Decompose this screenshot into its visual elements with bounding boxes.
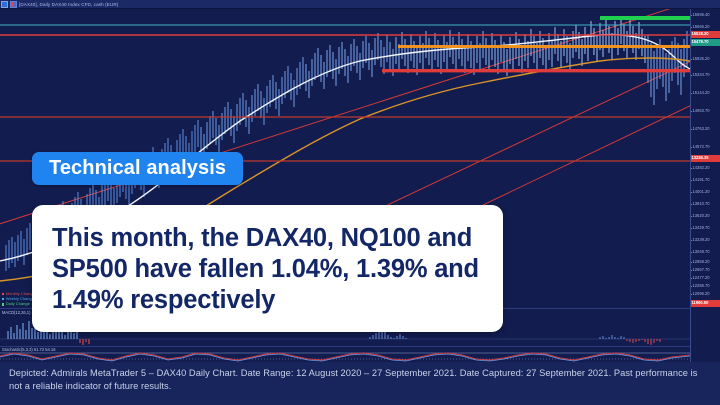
legend-color-swatch-daily [2,303,4,305]
macd-scale-axis [690,308,720,346]
screenshot-root: [DAX40], Daily DAX40 Index CFD, cash (EU… [0,0,720,405]
legend-color-swatch-monthly [2,293,4,295]
price-tag-ask: 15528.20 [690,31,720,38]
price-tick: 13048.70 [690,248,720,256]
chart-title-label: [DAX40], Daily DAX40 Index CFD, cash (EU… [19,0,118,9]
price-tick: 12096.20 [690,290,720,298]
price-tick: 15696.40 [690,11,720,19]
price-tick: 13810.70 [690,200,720,208]
price-tick: 12477.20 [690,274,720,282]
stochastic-scale-axis [690,346,720,362]
chart-titlebar: [DAX40], Daily DAX40 Index CFD, cash (EU… [0,0,720,9]
price-tick: 15144.20 [690,89,720,97]
stochastic-pane-label: Stochastic(5,3,3) 61.72 54.16 [2,347,55,352]
legend-color-swatch-weekly [2,298,4,300]
chart-legend: Monthly Change Weekly Change Daily Chang… [2,291,35,307]
price-tag-bid: 15479.70 [690,39,720,46]
price-tag-level-2: 11960.50 [690,300,720,307]
mt5-app-icon [1,1,8,8]
price-tick: 15566.20 [690,23,720,31]
legend-row-daily: Daily Change [2,301,35,306]
price-tick: 14001.20 [690,188,720,196]
technical-analysis-badge: Technical analysis [32,152,243,185]
price-tick: 14763.20 [690,125,720,133]
price-tick: 14953.70 [690,107,720,115]
legend-label-daily: Daily Change [6,301,30,306]
price-tick: 12858.20 [690,258,720,266]
price-scale-axis[interactable]: 15696.40 15566.20 15825.20 15334.70 1514… [690,9,720,308]
stochastic-svg [0,347,690,362]
price-tick: 13239.20 [690,236,720,244]
technical-analysis-badge-label: Technical analysis [49,158,226,178]
price-tick: 14191.70 [690,176,720,184]
price-tag-level-1: 13286.35 [690,155,720,162]
price-tick: 12286.70 [690,282,720,290]
caption-disclaimer-text: Depicted: Admirals MetaTrader 5 – DAX40 … [9,367,711,392]
headline-callout-text: This month, the DAX40, NQ100 and SP500 h… [52,223,483,316]
price-tick: 14382.20 [690,164,720,172]
price-tick: 13620.20 [690,212,720,220]
caption-bar: Depicted: Admirals MetaTrader 5 – DAX40 … [0,362,720,405]
price-tick: 15334.70 [690,71,720,79]
price-tick: 12667.70 [690,266,720,274]
headline-callout-card: This month, the DAX40, NQ100 and SP500 h… [32,205,503,332]
symbol-flag-icon [10,1,17,8]
price-tick: 13429.70 [690,224,720,232]
price-tick: 14572.70 [690,143,720,151]
stochastic-indicator-pane[interactable]: Stochastic(5,3,3) 61.72 54.16 [0,346,690,362]
price-tick: 15825.20 [690,55,720,63]
